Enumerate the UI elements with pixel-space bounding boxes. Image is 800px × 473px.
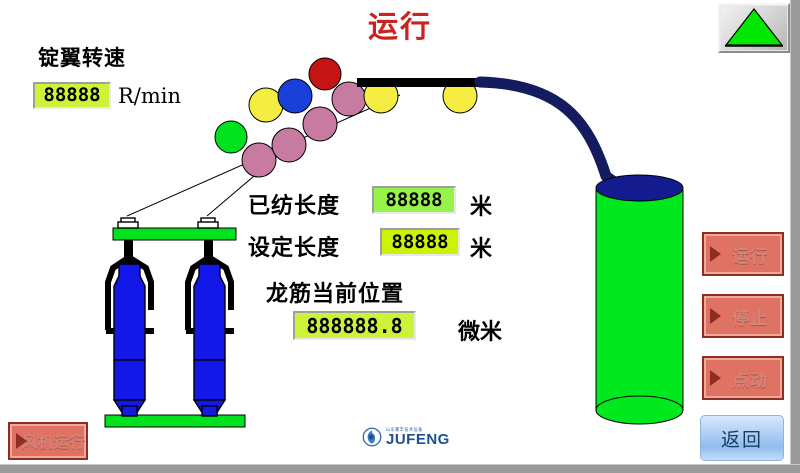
spindle-speed-unit: R/min: [118, 84, 181, 108]
spun-length-unit: 米: [470, 189, 492, 221]
top-rail-bar: [357, 78, 489, 87]
roving-ball-yellow-2: [364, 79, 398, 113]
sliver-strand-tip: [606, 176, 630, 187]
roving-ball-pink-2: [272, 128, 306, 162]
spindle-assembly: [105, 218, 245, 427]
fan-run-button[interactable]: 风机运行: [8, 422, 88, 460]
spun-length-label: 已纺长度: [248, 188, 340, 220]
up-arrow-button[interactable]: [718, 3, 790, 53]
run-button-label: 运行: [718, 242, 768, 267]
jog-button-label: 点动: [718, 366, 768, 391]
company-logo: 山东聚丰技术设备 JUFENG: [362, 427, 450, 447]
flyer-right: [186, 218, 234, 416]
run-button[interactable]: 运行: [702, 232, 784, 276]
return-button[interactable]: 返回: [700, 415, 784, 461]
rail-position-unit: 微米: [458, 314, 502, 346]
window-edge-bottom: [0, 464, 800, 473]
stop-button[interactable]: 停止: [702, 294, 784, 338]
stop-button-label: 停止: [718, 304, 768, 329]
triangle-right-icon: [710, 370, 721, 386]
logo-english-text: JUFENG: [386, 432, 450, 447]
roving-guide-line: [294, 95, 400, 142]
sliver-strand: [480, 82, 606, 176]
spindle-speed-label: 锭翼转速: [38, 42, 126, 72]
flyer-left: [106, 218, 154, 416]
triangle-up-icon: [720, 5, 788, 51]
rail-position-value[interactable]: 888888.8: [293, 311, 416, 340]
spindle-speed-value[interactable]: 88888: [33, 82, 111, 109]
hmi-screen: 运行 锭翼转速 88888 R/min 已纺长度 88888 米 设定长度 88…: [0, 0, 800, 473]
window-edge-right: [790, 0, 800, 473]
roving-ball-group: [215, 58, 477, 177]
roving-ball-pink-3: [303, 107, 337, 141]
logo-chinese-text: 山东聚丰技术设备: [386, 427, 450, 431]
sliver-can: [596, 175, 683, 424]
triangle-right-icon: [710, 246, 721, 262]
jufeng-mark-icon: [362, 427, 382, 447]
page-title: 运行: [335, 2, 465, 46]
roving-ball-pink-4: [332, 82, 366, 116]
roving-ball-yellow-3: [443, 79, 477, 113]
set-length-label: 设定长度: [248, 230, 340, 262]
roving-ball-red: [309, 58, 341, 90]
set-length-unit: 米: [470, 231, 492, 263]
roving-ball-green: [215, 121, 247, 153]
spun-length-value[interactable]: 88888: [372, 186, 456, 214]
triangle-right-icon: [710, 308, 721, 324]
roving-ball-yellow-1: [249, 88, 283, 122]
upper-rail: [113, 228, 236, 240]
triangle-right-icon: [16, 433, 27, 449]
rail-position-label: 龙筋当前位置: [266, 276, 404, 308]
lower-rail: [105, 415, 245, 427]
jog-button[interactable]: 点动: [702, 356, 784, 400]
roving-ball-blue: [278, 79, 312, 113]
roving-ball-pink-1: [242, 143, 276, 177]
set-length-value[interactable]: 88888: [380, 228, 460, 256]
